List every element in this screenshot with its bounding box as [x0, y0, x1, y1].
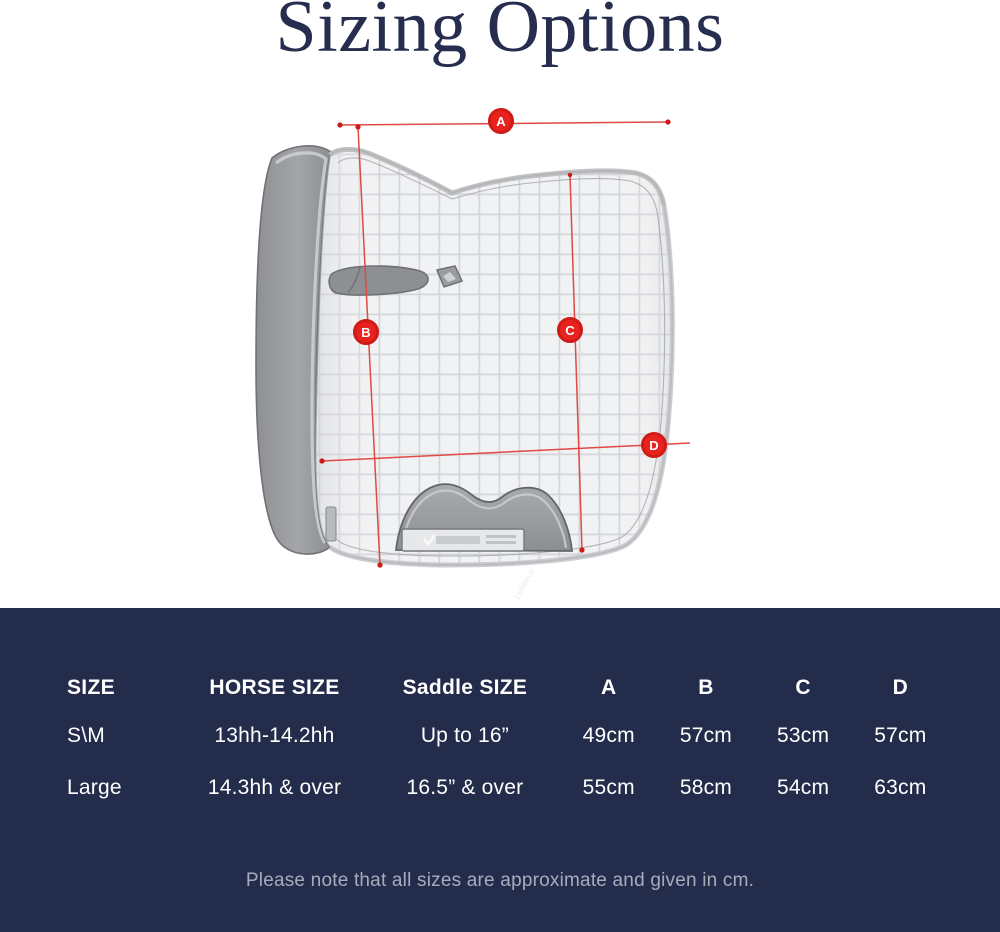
column-header-a: A: [560, 666, 657, 710]
saddle-pad-illustration: LeMieux: [0, 95, 1000, 608]
column-header-c: C: [755, 666, 852, 710]
table-header-row: SIZE HORSE SIZE Saddle SIZE A B C D: [51, 666, 949, 710]
sizing-options-page: Sizing Options: [0, 0, 1000, 932]
cell-horse-size: 14.3hh & over: [179, 762, 369, 814]
saddle-pad-diagram: LeMieux: [0, 95, 1000, 608]
sizing-table-body: S\M 13hh-14.2hh Up to 16” 49cm 57cm 53cm…: [51, 710, 949, 814]
product-label-tag: [402, 529, 524, 551]
table-row: Large 14.3hh & over 16.5” & over 55cm 58…: [51, 762, 949, 814]
cell-a: 55cm: [560, 762, 657, 814]
column-header-size: SIZE: [51, 666, 179, 710]
cell-size: Large: [51, 762, 179, 814]
measurement-marker-b: B: [353, 319, 379, 345]
column-header-b: B: [657, 666, 754, 710]
cell-d: 57cm: [852, 710, 949, 762]
girth-loop-strap: [329, 266, 428, 295]
cell-c: 53cm: [755, 710, 852, 762]
pad-brand-text: LeMieux: [512, 566, 537, 601]
sizing-table-wrapper: SIZE HORSE SIZE Saddle SIZE A B C D S\M …: [0, 666, 1000, 814]
sizing-table: SIZE HORSE SIZE Saddle SIZE A B C D S\M …: [51, 666, 949, 814]
cell-a: 49cm: [560, 710, 657, 762]
cell-saddle-size: Up to 16”: [370, 710, 560, 762]
sizing-table-panel: SIZE HORSE SIZE Saddle SIZE A B C D S\M …: [0, 608, 1000, 932]
measurement-marker-d: D: [641, 432, 667, 458]
column-header-saddle-size: Saddle SIZE: [370, 666, 560, 710]
cell-saddle-size: 16.5” & over: [370, 762, 560, 814]
sizing-footnote: Please note that all sizes are approxima…: [0, 870, 1000, 892]
table-row: S\M 13hh-14.2hh Up to 16” 49cm 57cm 53cm…: [51, 710, 949, 762]
cell-b: 58cm: [657, 762, 754, 814]
cell-b: 57cm: [657, 710, 754, 762]
column-header-d: D: [852, 666, 949, 710]
column-header-horse-size: HORSE SIZE: [179, 666, 369, 710]
measurement-marker-a: A: [488, 108, 514, 134]
page-title-area: Sizing Options: [0, 0, 1000, 95]
cell-horse-size: 13hh-14.2hh: [179, 710, 369, 762]
cell-d: 63cm: [852, 762, 949, 814]
cell-c: 54cm: [755, 762, 852, 814]
side-tab-label: [326, 507, 336, 541]
sizing-table-head: SIZE HORSE SIZE Saddle SIZE A B C D: [51, 666, 949, 710]
measurement-marker-c: C: [557, 317, 583, 343]
page-title: Sizing Options: [276, 0, 725, 64]
cell-size: S\M: [51, 710, 179, 762]
